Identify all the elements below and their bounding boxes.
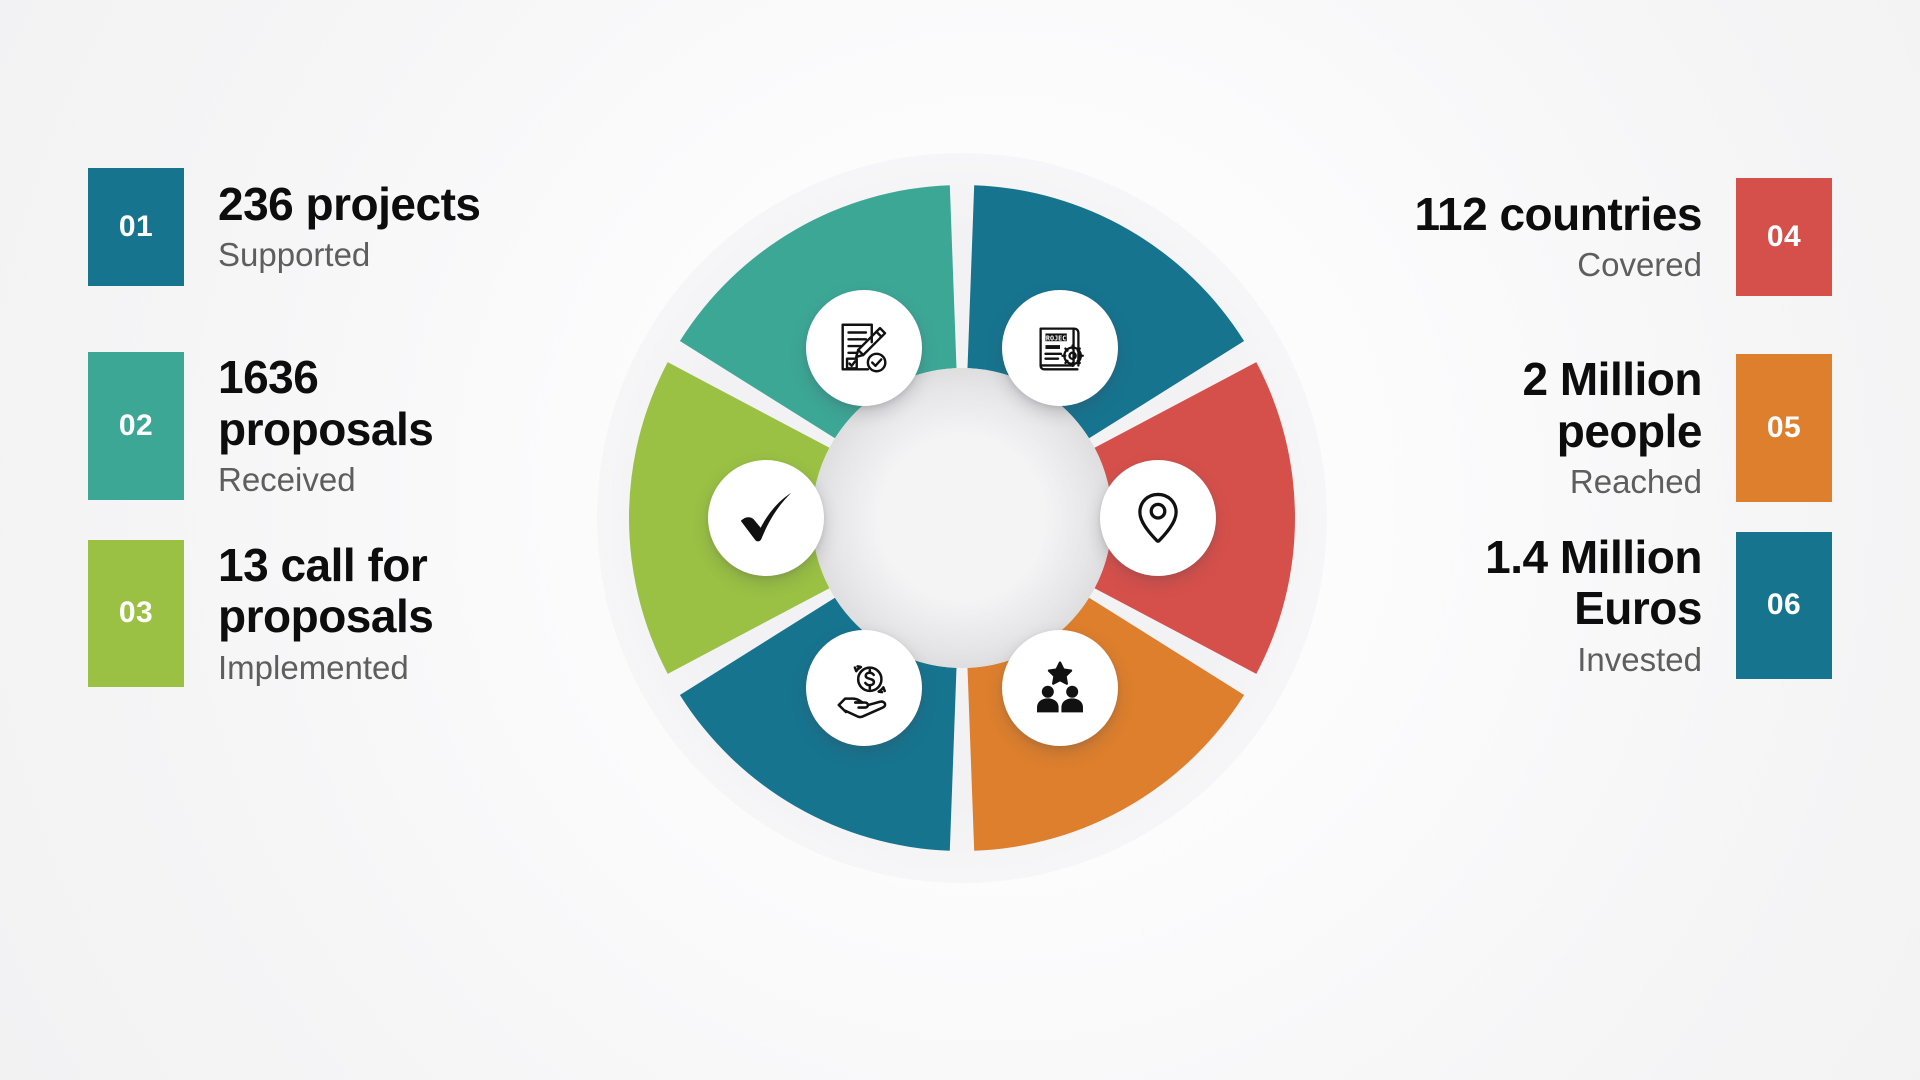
stat-number-04: 04 [1767,220,1801,254]
stat-sub-04: Covered [1577,245,1702,285]
stat-item-01[interactable]: 01 236 projects Supported [88,168,480,286]
stat-number-badge-03: 03 [88,540,184,688]
stat-item-02[interactable]: 02 1636 proposals Received [88,352,433,500]
svg-text:PROJECT: PROJECT [1042,335,1071,343]
stat-number-06: 06 [1767,588,1801,622]
stat-number-badge-06: 06 [1736,532,1832,680]
stat-text-04: 112 countries Covered [1414,178,1702,296]
left-stats-column: 01 236 projects Supported 02 1636 propos… [88,168,648,687]
stat-item-03[interactable]: 03 13 call for proposals Implemented [88,540,433,688]
project-document-gear-icon[interactable]: PROJECT [1002,290,1118,406]
stat-number-badge-01: 01 [88,168,184,286]
stat-headline-06: 1.4 Million Euros [1485,532,1702,635]
document-pencil-check-icon[interactable] [806,290,922,406]
stat-number-03: 03 [119,596,153,630]
stat-number-05: 05 [1767,411,1801,445]
stat-headline-02: 1636 proposals [218,352,433,455]
stat-headline-05: 2 Million people [1523,354,1703,457]
stat-sub-02: Received [218,460,356,500]
location-pin-icon[interactable] [1100,460,1216,576]
stat-text-01: 236 projects Supported [218,168,480,286]
stat-item-04[interactable]: 112 countries Covered 04 [1414,178,1832,296]
stat-sub-06: Invested [1577,640,1702,680]
stat-number-01: 01 [119,210,153,244]
stat-text-05: 2 Million people Reached [1523,354,1703,502]
stat-headline-01: 236 projects [218,179,480,231]
stat-number-02: 02 [119,409,153,443]
stat-text-02: 1636 proposals Received [218,352,433,500]
checkmark-icon[interactable] [708,460,824,576]
stat-sub-03: Implemented [218,648,409,688]
stat-item-05[interactable]: 2 Million people Reached 05 [1523,354,1833,502]
stat-number-badge-05: 05 [1736,354,1832,502]
hand-money-icon[interactable] [806,630,922,746]
right-stats-column: 112 countries Covered 04 2 Million peopl… [1272,178,1832,679]
stat-text-06: 1.4 Million Euros Invested [1485,532,1702,680]
donut-chart: PROJECT [622,178,1302,858]
donut-inner-hole [812,368,1112,668]
stat-headline-03: 13 call for proposals [218,540,433,643]
stat-item-06[interactable]: 1.4 Million Euros Invested 06 [1485,532,1832,680]
stat-sub-05: Reached [1570,462,1702,502]
people-star-icon[interactable] [1002,630,1118,746]
stat-number-badge-02: 02 [88,352,184,500]
stat-sub-01: Supported [218,235,370,275]
stat-text-03: 13 call for proposals Implemented [218,540,433,688]
stat-headline-04: 112 countries [1414,189,1702,241]
stat-number-badge-04: 04 [1736,178,1832,296]
